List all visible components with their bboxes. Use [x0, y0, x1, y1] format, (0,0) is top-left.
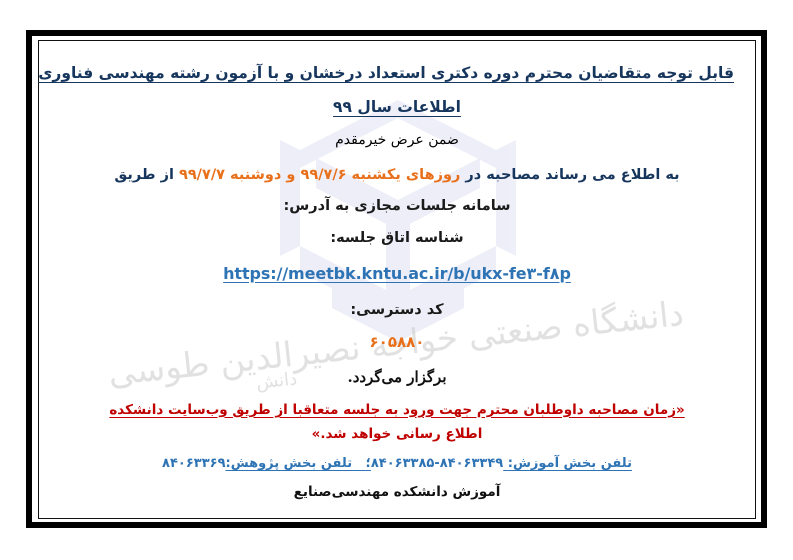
announcement-title-line-1: قابل توجه متقاضیان محترم دوره دکتری استع… [60, 62, 734, 84]
announcement-title-line-2: اطلاعات سال ۹۹ [60, 96, 734, 118]
schedule-suffix-text: از طریق [114, 167, 174, 183]
virtual-meeting-platform-line: سامانه جلسات مجازی به آدرس: [60, 196, 734, 217]
notice-line-2: اطلاع رسانی خواهد شد.» [60, 425, 734, 444]
notice-line-1: «زمان مصاحبه داوطلبان محترم جهت ورود به … [60, 401, 734, 420]
meeting-room-id-label: شناسه اتاق جلسه: [60, 228, 734, 249]
greeting-line: ضمن عرض خیرمقدم [60, 131, 734, 151]
notice-line-2-text: اطلاع رسانی خواهد شد.» [312, 426, 483, 442]
phone-education-value: ۸۴۰۶۳۳۸۵-۸۴۰۶۳۳۴۹ [371, 455, 503, 473]
announcement-title-line-1-text: قابل توجه متقاضیان محترم دوره دکتری استع… [38, 64, 734, 82]
phone-research-label: تلفن بخش پژوهش: [226, 456, 353, 471]
announcement-title-line-2-text: اطلاعات سال ۹۹ [333, 98, 461, 116]
phone-education-label: تلفن بخش آموزش: [508, 456, 632, 471]
interview-schedule-line: به اطلاع می رساند مصاحبه در روزهای یکشنب… [60, 165, 734, 186]
access-code-label: کد دسترسی: [60, 300, 734, 321]
meeting-link-row: https://meetbk.kntu.ac.ir/b/ukx-fe۳-f۸p [60, 263, 734, 286]
notice-line-1-text: «زمان مصاحبه داوطلبان محترم جهت ورود به … [109, 402, 684, 418]
interview-dates-text: روزهای یکشنبه ۹۹/۷/۶ و دوشنبه ۹۹/۷/۷ [179, 167, 460, 183]
will-be-held-line: برگزار می‌گردد. [60, 367, 734, 388]
meeting-url-link[interactable]: https://meetbk.kntu.ac.ir/b/ukx-fe۳-f۸p [223, 264, 571, 283]
department-signature: آموزش دانشکده مهندسی‌صنایع [60, 483, 734, 502]
document-page: دانشگاه صنعتی خواجه نصیرالدین طوسی دانش … [0, 0, 793, 560]
announcement-body: قابل توجه متقاضیان محترم دوره دکتری استع… [44, 46, 750, 512]
phone-research-value: ۸۴۰۶۳۳۶۹ [162, 455, 225, 473]
access-code-value: ۶۰۵۸۸۰ [60, 332, 734, 353]
contact-phones-line: تلفن بخش آموزش: ۸۴۰۶۳۳۸۵-۸۴۰۶۳۳۴۹؛ تلفن … [60, 455, 734, 473]
schedule-prefix-text: به اطلاع می رساند مصاحبه در [465, 167, 679, 183]
